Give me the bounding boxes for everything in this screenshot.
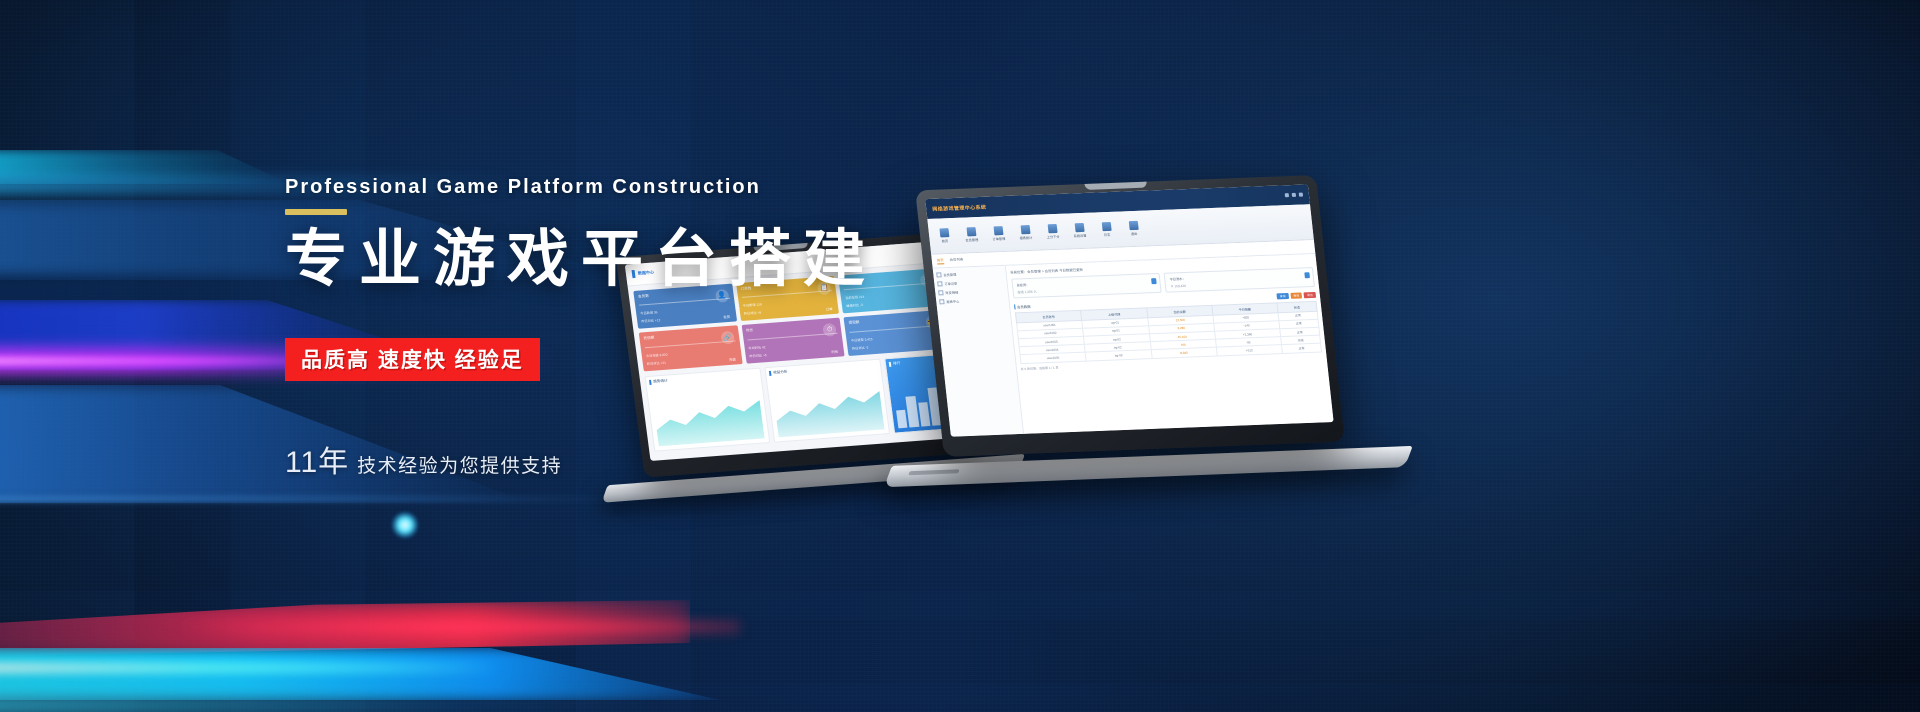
toolbar-label: 系统设置 xyxy=(1073,233,1086,238)
tagline: 11年技术经验为您提供支持 xyxy=(285,437,1045,481)
cell-status: 正常 xyxy=(1282,344,1322,354)
cell-agent: ag-03 xyxy=(1086,350,1152,361)
thin-blue-ray xyxy=(0,496,640,502)
toolbar-label: 上分下分 xyxy=(1046,234,1059,239)
app-main-content: 当前位置：会员管理 > 会员列表 今日数据已更新 总会员： 在线 1,286 人… xyxy=(1005,254,1333,433)
cell-balance: 8,940 xyxy=(1151,348,1217,359)
query-button[interactable]: 查询 xyxy=(1277,293,1289,299)
toolbar-label: 日志 xyxy=(1104,232,1111,237)
feature-badge-label: 品质高 速度快 经验足 xyxy=(301,349,524,372)
cell-winloss: +512 xyxy=(1216,345,1282,356)
add-button[interactable]: 新增 xyxy=(1290,293,1302,299)
log-icon xyxy=(1101,222,1111,231)
settings-icon xyxy=(1074,223,1084,232)
tagline-description: 技术经验为您提供支持 xyxy=(357,456,562,477)
window-controls[interactable] xyxy=(1285,193,1303,198)
toolbar-button-settings[interactable]: 系统设置 xyxy=(1069,223,1091,239)
member-data-table: 会员账号 上级代理 当前余额 今日输赢 状态 user1 xyxy=(1015,301,1322,363)
cyan-ray-top xyxy=(0,150,290,184)
exit-icon xyxy=(1128,221,1138,230)
maximize-icon[interactable] xyxy=(1292,193,1296,197)
banner-copy: Professional Game Platform Construction … xyxy=(285,176,1045,481)
toolbar-label: 退出 xyxy=(1131,231,1138,236)
red-ray xyxy=(0,600,690,658)
close-icon[interactable] xyxy=(1299,193,1303,197)
minimize-icon[interactable] xyxy=(1285,193,1289,197)
toolbar-button-exit[interactable]: 退出 xyxy=(1123,221,1145,237)
points-icon xyxy=(1047,224,1057,233)
money-icon xyxy=(1304,273,1310,279)
user-group-icon xyxy=(1151,279,1157,285)
gold-rule-divider xyxy=(285,209,347,215)
glow-dot-accent xyxy=(392,512,418,538)
table-action-buttons: 查询 新增 导出 xyxy=(1277,292,1317,299)
summary-card[interactable]: 今日流水： ￥ 158,420 xyxy=(1164,268,1315,294)
cyan-ray-bottom-core xyxy=(0,662,500,674)
export-button[interactable]: 导出 xyxy=(1304,292,1316,298)
toolbar-button-log[interactable]: 日志 xyxy=(1096,222,1118,238)
front-laptop-notch xyxy=(1084,182,1147,190)
cyan-ray-bottom-secondary xyxy=(0,694,660,712)
eyebrow-text: Professional Game Platform Construction xyxy=(285,176,1045,199)
cyan-ray-bottom xyxy=(0,648,720,700)
feature-badge: 品质高 速度快 经验足 xyxy=(285,338,540,381)
tagline-years: 11年 xyxy=(285,446,349,479)
red-ray-core xyxy=(180,620,740,634)
promo-banner: Professional Game Platform Construction … xyxy=(0,0,1920,712)
headline-text: 专业游戏平台搭建 xyxy=(285,225,1045,294)
